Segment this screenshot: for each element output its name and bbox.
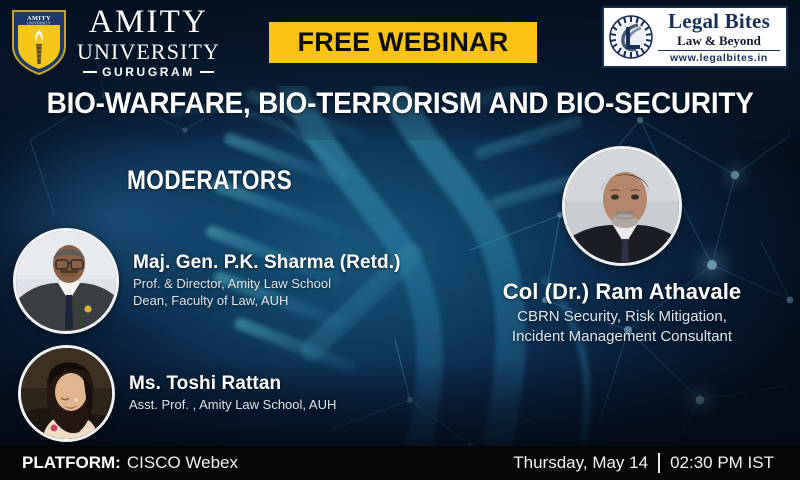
legal-bites-title: Legal Bites	[668, 11, 770, 32]
portrait-photo	[565, 149, 682, 266]
moderator-1-name: Maj. Gen. P.K. Sharma (Retd.)	[133, 252, 401, 274]
moderator-2-avatar	[18, 345, 115, 442]
amity-logo-line1: AMITY	[89, 6, 208, 39]
schedule-separator	[658, 453, 660, 473]
legal-bites-l-monogram-icon	[608, 14, 654, 60]
schedule-info: Thursday, May 14 02:30 PM IST	[513, 453, 774, 473]
moderator-2: Ms. Toshi Rattan Asst. Prof. , Amity Law…	[18, 345, 336, 442]
amity-logo-line3-wrap: GURUGRAM	[83, 66, 214, 78]
speaker-name: Col (Dr.) Ram Athavale	[503, 279, 742, 304]
legal-bites-wordmark: Legal Bites Law & Beyond www.legalbites.…	[658, 11, 780, 64]
svg-text:UNIVERSITY: UNIVERSITY	[27, 21, 51, 25]
moderator-1-role-line2: Dean, Faculty of Law, AUH	[133, 293, 401, 310]
webinar-poster: AMITY UNIVERSITY AMITY UNIVERSITY GURUGR…	[0, 0, 800, 480]
speaker-role-line1: CBRN Security, Risk Mitigation,	[503, 307, 742, 327]
platform-value: CISCO Webex	[127, 453, 238, 473]
rule-right	[200, 71, 214, 73]
legal-bites-tagline: Law & Beyond	[677, 34, 761, 47]
moderator-1-role-line1: Prof. & Director, Amity Law School	[133, 276, 401, 293]
amity-logo-line3: GURUGRAM	[102, 66, 195, 78]
poster-footer: PLATFORM: CISCO Webex Thursday, May 14 0…	[0, 446, 800, 480]
event-time: 02:30 PM IST	[670, 453, 774, 473]
poster-title-band: BIO-WARFARE, BIO-TERRORISM AND BIO-SECUR…	[0, 84, 800, 124]
free-webinar-label: FREE WEBINAR	[298, 27, 509, 58]
amity-logo-wordmark: AMITY UNIVERSITY GURUGRAM	[77, 4, 220, 78]
legal-bites-logo: Legal Bites Law & Beyond www.legalbites.…	[602, 6, 788, 68]
rule-left	[83, 71, 97, 73]
moderator-2-text: Ms. Toshi Rattan Asst. Prof. , Amity Law…	[129, 373, 336, 413]
portrait-photo	[16, 231, 119, 334]
speaker-block: Col (Dr.) Ram Athavale CBRN Security, Ri…	[452, 146, 792, 347]
amity-shield-icon: AMITY UNIVERSITY	[10, 6, 68, 76]
moderators-heading: MODERATORS	[127, 165, 292, 196]
moderator-1: Maj. Gen. P.K. Sharma (Retd.) Prof. & Di…	[13, 228, 401, 334]
moderator-1-avatar	[13, 228, 119, 334]
amity-logo-line2: UNIVERSITY	[77, 41, 220, 63]
platform-info: PLATFORM: CISCO Webex	[22, 453, 238, 473]
legal-bites-website: www.legalbites.in	[658, 50, 780, 64]
moderator-2-role-line1: Asst. Prof. , Amity Law School, AUH	[129, 397, 336, 414]
poster-header: AMITY UNIVERSITY AMITY UNIVERSITY GURUGR…	[0, 0, 800, 82]
moderator-2-name: Ms. Toshi Rattan	[129, 373, 336, 395]
event-date: Thursday, May 14	[513, 453, 648, 473]
speaker-role-line2: Incident Management Consultant	[503, 327, 742, 347]
amity-university-logo: AMITY UNIVERSITY AMITY UNIVERSITY GURUGR…	[10, 4, 220, 78]
speaker-avatar	[562, 146, 682, 266]
poster-title: BIO-WARFARE, BIO-TERRORISM AND BIO-SECUR…	[46, 87, 753, 121]
speaker-text: Col (Dr.) Ram Athavale CBRN Security, Ri…	[503, 279, 742, 347]
moderator-1-text: Maj. Gen. P.K. Sharma (Retd.) Prof. & Di…	[133, 252, 401, 309]
free-webinar-banner: FREE WEBINAR	[269, 22, 537, 63]
platform-label: PLATFORM:	[22, 453, 121, 473]
portrait-photo	[21, 348, 115, 442]
